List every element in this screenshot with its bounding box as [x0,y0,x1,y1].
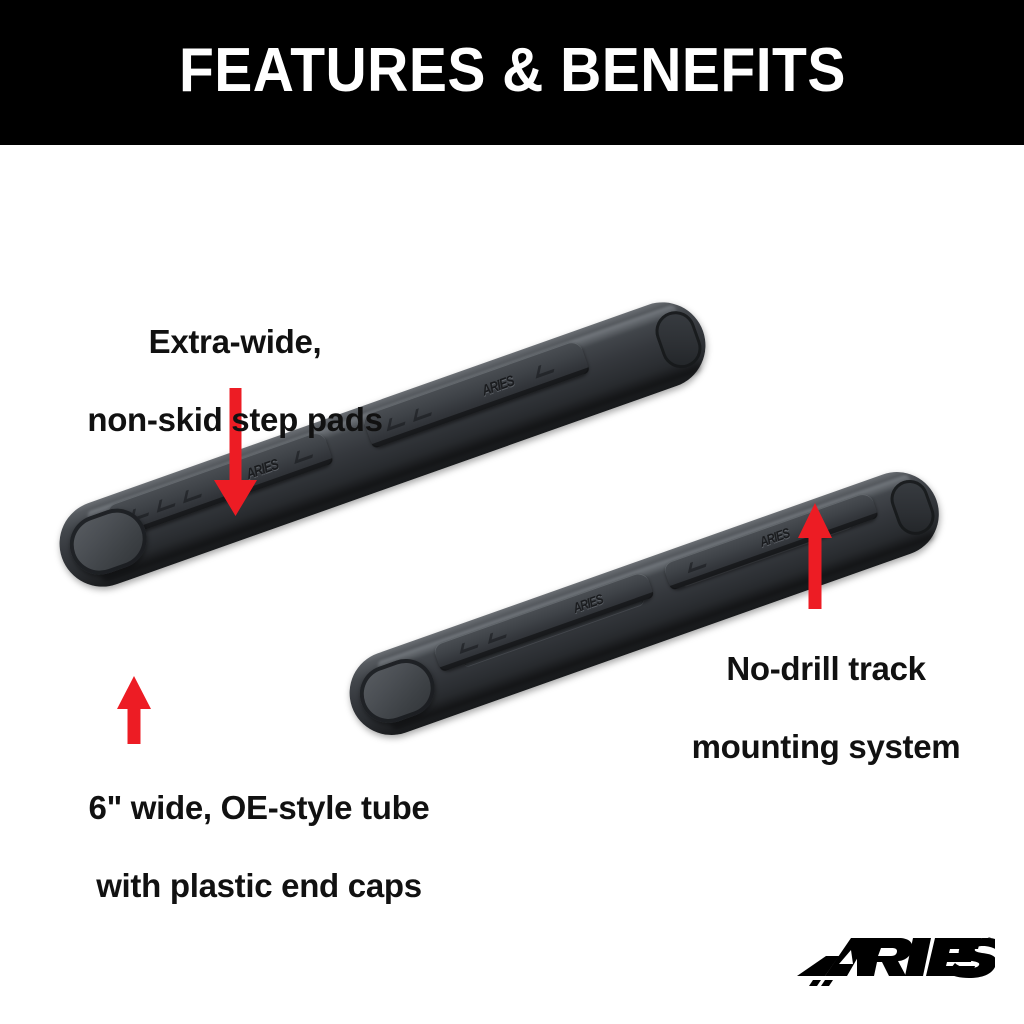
tread-chevron-icon [183,485,204,504]
tread-chevron-icon [536,360,557,379]
callout-tube-end-caps: 6" wide, OE-style tube with plastic end … [18,750,500,945]
tread-chevron-icon [157,494,178,513]
aries-emboss-front-1: ARIES [571,591,605,616]
tread-chevron-icon [460,638,480,655]
callout-step-pads: Extra-wide, non-skid step pads [40,284,430,479]
page-title: FEATURES & BENEFITS [179,40,846,102]
infographic-canvas: FEATURES & BENEFITS ARIES ARIES [0,0,1024,1024]
callout-arrow-no-drill-track [789,503,841,609]
registered-trademark-symbol: ® [986,936,993,946]
callout-step-pads-line2: non-skid step pads [40,401,430,440]
callout-no-drill-track-line1: No-drill track [648,650,1004,689]
callout-arrow-tube-end-caps [108,676,160,744]
callout-tube-end-caps-line2: with plastic end caps [18,867,500,906]
header-bar: FEATURES & BENEFITS [0,0,1024,145]
callout-no-drill-track-line2: mounting system [648,728,1004,767]
callout-step-pads-line1: Extra-wide, [40,323,430,362]
aries-emboss-front-2: ARIES [758,525,792,550]
aries-emboss-rear-2: ARIES [480,373,516,400]
tread-chevron-icon [688,557,708,574]
tread-chevron-icon [488,628,508,645]
callout-tube-end-caps-line1: 6" wide, OE-style tube [18,789,500,828]
aries-logo: ® [795,930,995,986]
callout-no-drill-track: No-drill track mounting system [648,611,1004,806]
